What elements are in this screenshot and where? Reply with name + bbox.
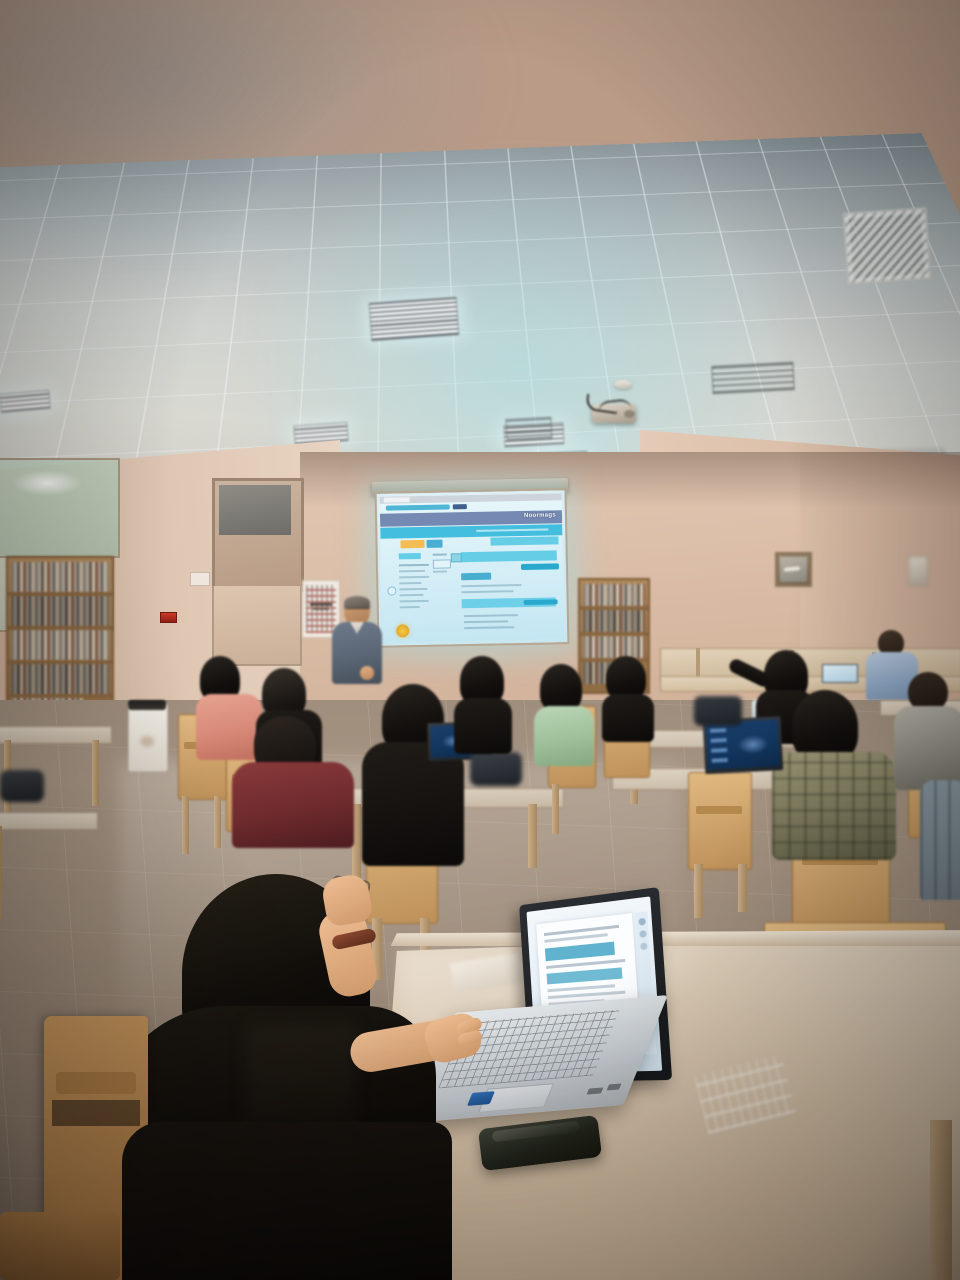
poster-title-line — [310, 603, 332, 606]
laptop-screen — [822, 664, 858, 683]
foreground-fabric — [122, 1122, 452, 1280]
slide-result-line — [464, 626, 514, 629]
bag-on-table — [0, 770, 44, 802]
laptop-carrel — [822, 664, 860, 686]
person-presenter — [330, 596, 386, 688]
slide-left-row — [399, 582, 421, 584]
slide-side-icon — [387, 586, 396, 595]
student-torso — [920, 780, 960, 900]
interior-door-panel — [212, 586, 302, 666]
projector-lens — [624, 410, 635, 418]
chair-leg — [694, 864, 703, 918]
slide-url-bar — [386, 504, 450, 510]
backpack — [694, 696, 742, 726]
person-student-8 — [894, 672, 960, 788]
slide-filter-row — [433, 570, 447, 572]
student-hijab — [540, 664, 582, 712]
books-row — [11, 664, 109, 694]
library-table — [0, 812, 98, 830]
student-torso — [232, 762, 354, 848]
smoke-detector — [614, 380, 632, 389]
books-row — [11, 562, 109, 592]
slide-result-card — [461, 550, 557, 562]
books-row — [11, 630, 109, 660]
slide-browser-tab — [384, 497, 410, 502]
slide-left-row — [399, 594, 423, 596]
wall-sign — [190, 572, 210, 586]
interior-window-glass — [219, 485, 291, 535]
laptop-screen-icons — [710, 726, 728, 763]
person-student-9 — [920, 780, 960, 900]
slide-left-row — [400, 606, 420, 608]
slide-tab-active — [400, 540, 424, 548]
slide-filter-box — [433, 559, 451, 568]
person-student-5 — [454, 656, 516, 752]
photo-scene: Noormags — [0, 0, 960, 1280]
slide-left-row — [399, 588, 427, 591]
air-supply-vent — [711, 362, 794, 394]
slide-url-chip — [453, 504, 467, 509]
slide-tab — [426, 540, 442, 548]
student-torso — [454, 698, 512, 754]
backpack — [470, 752, 522, 786]
student-torso — [602, 694, 654, 742]
chair-leg — [182, 796, 189, 854]
person-student-6 — [534, 664, 598, 764]
books-row — [583, 636, 645, 658]
table-leg — [0, 826, 2, 918]
presenter-glasses — [347, 608, 368, 614]
presenter-hand — [360, 666, 374, 680]
air-diffuser-vent — [843, 207, 932, 285]
bin-label — [140, 736, 154, 747]
books-row — [583, 584, 645, 606]
student-torso — [894, 706, 960, 790]
person-student-2 — [232, 716, 358, 848]
books-row — [583, 610, 645, 632]
chair-slat — [56, 1072, 136, 1094]
slide-left-row — [399, 576, 429, 579]
slide-left-row — [399, 570, 425, 572]
person-student-7 — [770, 690, 900, 860]
person-student-5b — [602, 656, 658, 740]
wooden-chair — [688, 772, 752, 870]
slide-left-row — [399, 564, 429, 567]
slide-emblem — [396, 624, 409, 637]
glass-reflection — [12, 470, 82, 496]
slide-result-action — [521, 563, 559, 570]
student-jacket — [772, 752, 896, 860]
air-supply-vent — [505, 417, 552, 441]
slide-result-action — [524, 599, 558, 605]
table-leg — [528, 804, 537, 868]
framed-picture — [775, 552, 812, 587]
slide-result-line — [464, 614, 518, 617]
bin-liner — [128, 700, 166, 710]
slide-search-field — [490, 536, 558, 545]
chair-leg — [214, 796, 221, 848]
wooden-chair-foreground-right — [0, 1212, 120, 1280]
slide-site-logo: Noormags — [524, 512, 556, 519]
person-student-4 — [354, 684, 466, 866]
poster-title-line — [313, 608, 329, 610]
slide-left-heading — [399, 553, 421, 559]
books-row — [11, 596, 109, 626]
slide-result-tag — [461, 573, 491, 581]
slide-result-line — [461, 584, 521, 587]
louvered-light-panel — [369, 297, 459, 341]
chair-backrest-gap — [52, 1100, 140, 1126]
fire-alarm-call-point — [160, 612, 177, 623]
table-leg — [930, 1120, 952, 1280]
slide-result-line — [464, 620, 508, 623]
chair-leg — [552, 784, 559, 834]
table-leg — [92, 740, 99, 806]
slide-left-row — [400, 600, 429, 603]
projected-slide: Noormags — [380, 493, 565, 642]
projection-screen: Noormags — [375, 488, 570, 648]
chair-slat — [696, 806, 742, 814]
slide-result-line — [461, 590, 513, 593]
chair-leg — [738, 864, 747, 912]
student-torso — [534, 706, 594, 766]
wall-mounted-device — [908, 556, 928, 586]
slide-filter-label — [433, 553, 447, 555]
laptop-foreground — [436, 896, 666, 1116]
